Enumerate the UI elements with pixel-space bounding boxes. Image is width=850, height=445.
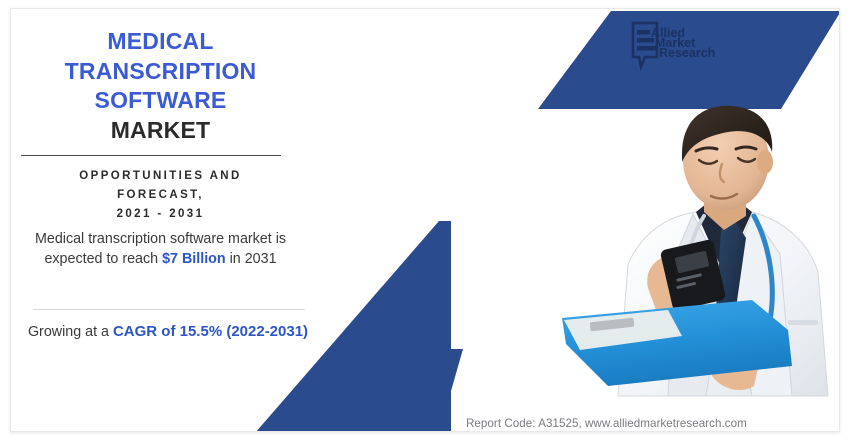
cagr-statement: Growing at a CAGR of 15.5% (2022-2031)	[23, 321, 313, 343]
cagr-prefix: Growing at a	[28, 324, 113, 340]
coat-pocket	[788, 320, 818, 325]
lede-suffix: in 2031	[226, 251, 277, 267]
market-value-statement: Medical transcription software market is…	[23, 229, 298, 269]
subtitle-line-3: 2021 - 2031	[117, 208, 205, 220]
ear	[757, 150, 773, 174]
divider-top	[21, 155, 281, 156]
infographic-root: Allied Market Research	[0, 0, 850, 445]
subtitle-block: OPPORTUNITIES AND FORECAST, 2021 - 2031	[23, 167, 298, 224]
doctor-dictating-photo	[556, 104, 840, 414]
logo-text-research: Research	[659, 46, 715, 60]
subtitle-line-2: FORECAST,	[117, 189, 204, 201]
report-card: Allied Market Research	[10, 8, 840, 432]
footer-report-code: Report Code: A31525, www.alliedmarketres…	[466, 417, 836, 430]
title-line-1: MEDICAL	[107, 28, 213, 54]
title-line-4: MARKET	[111, 117, 211, 143]
arrow-notch-shape	[439, 221, 451, 432]
title-line-3: SOFTWARE	[95, 87, 227, 113]
subtitle-line-1: OPPORTUNITIES AND	[79, 170, 241, 182]
divider-bottom	[33, 309, 305, 310]
page-title: MEDICAL TRANSCRIPTION SOFTWARE MARKET	[23, 27, 298, 145]
allied-market-research-logo: Allied Market Research	[631, 21, 723, 73]
lede-highlight-value: $7 Billion	[162, 251, 226, 267]
title-line-2: TRANSCRIPTION	[65, 58, 257, 84]
arrow-tip-shape	[439, 349, 463, 432]
cagr-highlight-value: CAGR of 15.5% (2022-2031)	[113, 323, 308, 340]
left-text-column: MEDICAL TRANSCRIPTION SOFTWARE MARKET	[23, 19, 298, 145]
